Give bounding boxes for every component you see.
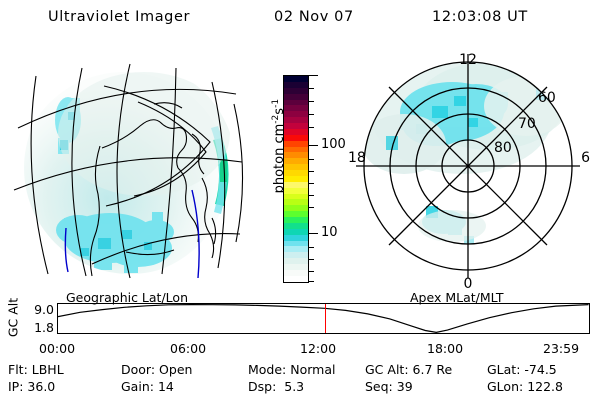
- observation-time: 12:03:08 UT: [432, 9, 528, 25]
- status-dsp: Dsp: 5.3: [248, 379, 304, 394]
- status-mode: Mode: Normal: [248, 362, 336, 377]
- observation-date: 02 Nov 07: [274, 9, 354, 25]
- status-ip: IP: 36.0: [8, 379, 55, 394]
- colorbar-band-34: [284, 276, 308, 282]
- apex-polar-panel[interactable]: 12 18 6 0 60 70 80: [340, 40, 598, 296]
- time-cursor-line[interactable]: [325, 304, 327, 333]
- page-title: Ultraviolet Imager: [48, 9, 190, 25]
- gc-alt-tick-top: 9.0: [20, 302, 54, 317]
- status-glon: GLon: 122.8: [487, 379, 563, 394]
- mlt-label-6: 6: [581, 150, 590, 166]
- mlat-label-60: 60: [538, 90, 556, 106]
- strip-chart-box[interactable]: [57, 303, 590, 334]
- status-gc-alt: GC Alt: 6.7 Re: [365, 362, 452, 377]
- time-tick-1: 06:00: [170, 341, 206, 356]
- status-gain: Gain: 14: [121, 379, 174, 394]
- geographic-globe-image: [6, 42, 254, 294]
- time-axis: 00:00 06:00 12:00 18:00 23:59: [0, 341, 600, 359]
- apex-polar-image: 12 18 6 0 60 70 80: [340, 40, 598, 296]
- gc-alt-trace: [58, 304, 589, 333]
- status-door: Door: Open: [121, 362, 192, 377]
- status-seq: Seq: 39: [365, 379, 413, 394]
- mlat-label-70: 70: [518, 116, 536, 132]
- time-tick-0: 00:00: [39, 341, 75, 356]
- time-tick-2: 12:00: [300, 341, 336, 356]
- status-block: Flt: LBHL Door: Open Mode: Normal GC Alt…: [0, 362, 600, 398]
- colorbar-label-10: 10: [321, 226, 338, 239]
- gc-alt-axis-label: GC Alt: [5, 296, 21, 340]
- mlt-label-12: 12: [459, 52, 477, 68]
- status-flt: Flt: LBHL: [8, 362, 64, 377]
- gc-alt-tick-bottom: 1.8: [20, 320, 54, 335]
- time-tick-3: 18:00: [427, 341, 463, 356]
- orbit-altitude-strip-panel[interactable]: GC Alt 9.0 1.8 Geographic Lat/Lon Apex M…: [0, 292, 600, 344]
- mlt-label-18: 18: [348, 150, 366, 166]
- colorbar-gradient: [283, 75, 309, 283]
- mlat-label-80: 80: [494, 140, 512, 156]
- time-tick-4: 23:59: [543, 341, 579, 356]
- status-glat: GLat: -74.5: [487, 362, 557, 377]
- gc-alt-polyline: [58, 305, 589, 333]
- header-bar: Ultraviolet Imager 02 Nov 07 12:03:08 UT: [0, 5, 600, 31]
- geographic-globe-panel[interactable]: [6, 42, 254, 294]
- polar-mlt-spokes: [356, 54, 580, 278]
